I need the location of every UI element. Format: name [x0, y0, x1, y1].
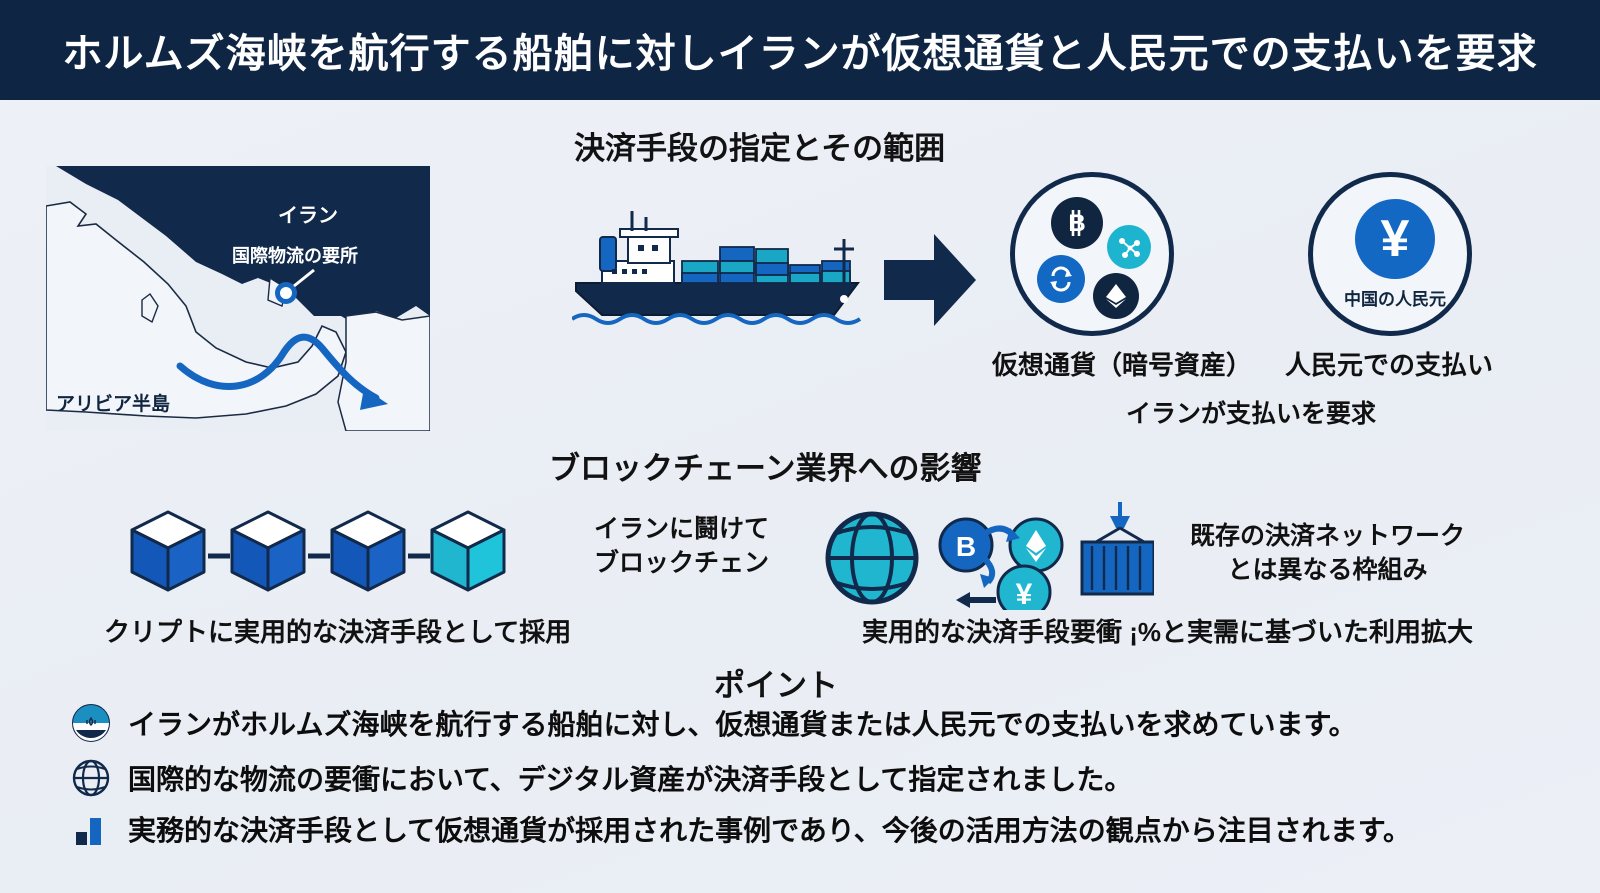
svg-text:¥: ¥ — [1016, 578, 1033, 610]
page-title: ホルムズ海峡を航行する船舶に対しイランが仮想通貨と人民元での支払いを要求 — [62, 21, 1537, 79]
header-bar: ホルムズ海峡を航行する船舶に対しイランが仮想通貨と人民元での支払いを要求 — [0, 0, 1600, 100]
globe-icon — [828, 514, 916, 602]
right-annotation-line2: とは異なる枠組み — [1190, 554, 1465, 588]
point-text: 実務的な決済手段として仮想通貨が採用された事例であり、今後の活用方法の観点から注… — [128, 809, 1411, 849]
crypto-caption: 仮想通貨（暗号資産） — [992, 345, 1252, 382]
point-item: 国際的な物流の要衝において、デジタル資産が決済手段として指定されました。 — [70, 757, 1132, 799]
yuan-caption: 人民元での支払い — [1285, 345, 1493, 382]
crypto-assets-circle: B — [1010, 172, 1174, 336]
svg-text:B: B — [1068, 210, 1085, 237]
svg-text:B: B — [956, 531, 976, 562]
swap-icon — [1037, 255, 1085, 303]
region-map: イラン 国際物流の要所 アリビア半島 — [46, 166, 430, 431]
right-annotation: 既存の決済ネットワーク とは異なる枠組み — [1190, 520, 1465, 588]
map-label-peninsula: アリビア半島 — [56, 389, 170, 416]
map-label-hub: 国際物流の要所 — [232, 242, 358, 268]
infographic-root: ホルムズ海峡を航行する船舶に対しイランが仮想通貨と人民元での支払いを要求 イラン… — [0, 0, 1600, 893]
cubes-caption: クリプトに実用的な決済手段として採用 — [104, 612, 571, 649]
bar-chart-icon — [70, 808, 112, 850]
middle-annotation: イランに鬪けて ブロックチェン — [594, 513, 769, 581]
blockchain-cubes — [120, 500, 520, 609]
section-title-points: ポイント — [714, 660, 838, 705]
point-text: イランがホルムズ海峡を航行する船舶に対し、仮想通貨または人民元での支払いを求めて… — [128, 703, 1357, 743]
globe-icon — [70, 757, 112, 799]
section-title-blockchain-impact: ブロックチェーン業界への影響 — [549, 443, 981, 488]
right-annotation-line1: 既存の決済ネットワーク — [1190, 520, 1465, 554]
middle-annotation-line1: イランに鬪けて — [594, 513, 769, 547]
ethereum-icon — [1093, 273, 1139, 319]
yuan-circle: ¥ 中国の人民元 — [1308, 172, 1472, 336]
network-node-icon — [1107, 225, 1151, 269]
iran-flag-icon — [70, 702, 112, 744]
map-label-iran: イラン — [278, 199, 338, 228]
middle-annotation-line2: ブロックチェン — [594, 547, 769, 581]
yen-symbol-icon: ¥ — [1355, 199, 1435, 279]
right-arrow-icon — [884, 228, 976, 337]
point-item: 実務的な決済手段として仮想通貨が採用された事例であり、今後の活用方法の観点から注… — [70, 808, 1411, 850]
yuan-inner-label: 中国の人民元 — [1313, 285, 1477, 310]
bitcoin-icon: B — [1051, 197, 1103, 249]
global-payment-cluster: B ¥ — [824, 500, 1154, 615]
point-item: イランがホルムズ海峡を航行する船舶に対し、仮想通貨または人民元での支払いを求めて… — [70, 702, 1357, 744]
container-ship-icon — [572, 205, 862, 335]
section-title-payment-scope: 決済手段の指定とその範囲 — [574, 123, 945, 168]
globe-caption: 実用的な決済手段要衝 ¡%と実需に基づいた利用拡大 — [862, 612, 1473, 649]
demand-caption: イランが支払いを要求 — [1126, 394, 1376, 430]
point-text: 国際的な物流の要衝において、デジタル資産が決済手段として指定されました。 — [128, 758, 1132, 798]
